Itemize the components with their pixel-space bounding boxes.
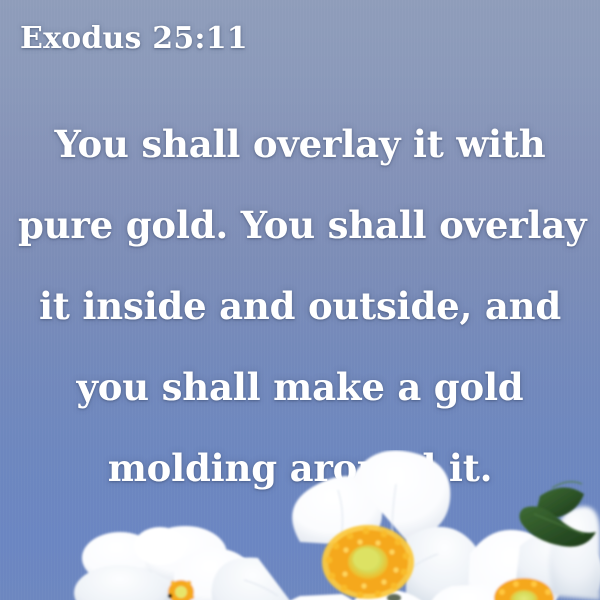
- flower-photo-band: [0, 450, 600, 600]
- stamen-cluster-center: [322, 525, 414, 599]
- verse-line: it inside and outside, and: [18, 266, 582, 347]
- stamen-cluster-left: [168, 580, 194, 600]
- verse-line: you shall make a gold: [18, 347, 582, 428]
- verse-image-canvas: Exodus 25:11 You shall overlay it with p…: [0, 0, 600, 600]
- verse-line: pure gold. You shall overlay: [18, 185, 582, 266]
- verse-line: You shall overlay it with: [18, 104, 582, 185]
- flowers-illustration: [0, 450, 600, 600]
- scripture-reference: Exodus 25:11: [20, 22, 248, 55]
- flower-center-main: [212, 450, 483, 600]
- verse-text-block: You shall overlay it with pure gold. You…: [0, 104, 600, 509]
